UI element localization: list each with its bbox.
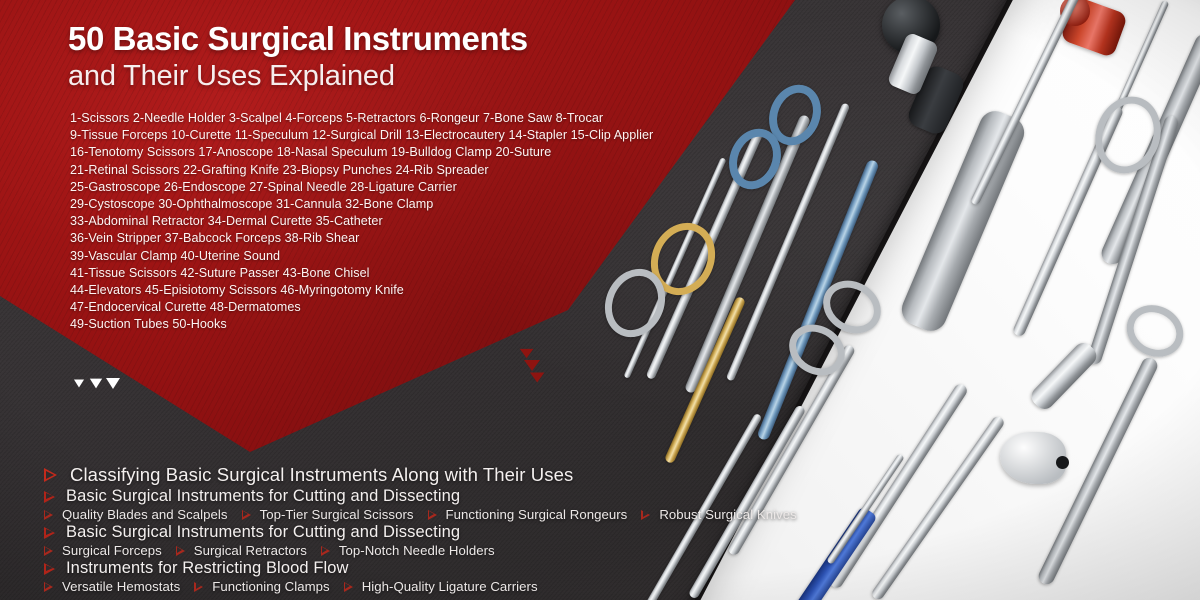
triangle-icon xyxy=(524,360,540,371)
instrument-list-line: 49-Suction Tubes 50-Hooks xyxy=(70,316,670,333)
instrument-list-line: 29-Cystoscope 30-Ophthalmoscope 31-Cannu… xyxy=(70,196,670,213)
toc-subitem[interactable]: Surgical Retractors xyxy=(176,543,307,558)
triangle-icon xyxy=(530,373,544,383)
page-title: 50 Basic Surgical Instruments and Their … xyxy=(68,22,688,93)
triangle-bullet-icon xyxy=(44,545,55,557)
table-of-contents: Classifying Basic Surgical Instruments A… xyxy=(44,464,1044,594)
toc-item-label: Instruments for Restricting Blood Flow xyxy=(66,559,349,578)
toc-subitem[interactable]: Quality Blades and Scalpels xyxy=(44,507,228,522)
toc-subitem[interactable]: Functioning Surgical Rongeurs xyxy=(428,507,628,522)
instrument-list-line: 44-Elevators 45-Episiotomy Scissors 46-M… xyxy=(70,282,670,299)
toc-item-label: Classifying Basic Surgical Instruments A… xyxy=(70,464,573,486)
triangle-bullet-icon xyxy=(428,509,439,521)
red-triangle-arrows-icon xyxy=(522,348,538,383)
instrument-list-line: 9-Tissue Forceps 10-Curette 11-Speculum … xyxy=(70,127,670,144)
toc-subitem[interactable]: Robust Surgical Knives xyxy=(641,507,796,522)
triangle-icon xyxy=(106,378,120,389)
triangle-icon xyxy=(520,349,534,358)
instrument-list-line: 25-Gastroscope 26-Endoscope 27-Spinal Ne… xyxy=(70,179,670,196)
toc-subitem-label: Versatile Hemostats xyxy=(62,579,180,594)
triangle-bullet-icon xyxy=(44,526,57,540)
title-subtitle: and Their Uses Explained xyxy=(68,59,688,93)
toc-subitem[interactable]: Top-Notch Needle Holders xyxy=(321,543,495,558)
toc-item-label: Basic Surgical Instruments for Cutting a… xyxy=(66,487,460,506)
white-triangle-arrows-icon xyxy=(72,378,120,389)
triangle-icon xyxy=(74,380,84,388)
triangle-bullet-icon xyxy=(344,581,355,593)
instrument-list-line: 33-Abdominal Retractor 34-Dermal Curette… xyxy=(70,213,670,230)
triangle-bullet-icon xyxy=(321,545,332,557)
instrument-list-line: 16-Tenotomy Scissors 17-Anoscope 18-Nasa… xyxy=(70,144,670,161)
triangle-bullet-icon xyxy=(176,545,187,557)
toc-subitem-label: Top-Notch Needle Holders xyxy=(339,543,495,558)
toc-subitem[interactable]: Versatile Hemostats xyxy=(44,579,180,594)
toc-row[interactable]: Classifying Basic Surgical Instruments A… xyxy=(44,464,1044,486)
toc-subitem-label: Quality Blades and Scalpels xyxy=(62,507,228,522)
triangle-bullet-icon xyxy=(44,509,55,521)
triangle-bullet-icon xyxy=(242,509,253,521)
instrument-list-line: 41-Tissue Scissors 42-Suture Passer 43-B… xyxy=(70,265,670,282)
toc-item-label: Basic Surgical Instruments for Cutting a… xyxy=(66,523,460,542)
triangle-bullet-icon xyxy=(44,490,57,504)
toc-subitem[interactable]: Surgical Forceps xyxy=(44,543,162,558)
toc-row[interactable]: Basic Surgical Instruments for Cutting a… xyxy=(44,487,1044,506)
toc-subitem[interactable]: High-Quality Ligature Carriers xyxy=(344,579,538,594)
triangle-icon xyxy=(90,379,102,389)
toc-row[interactable]: Instruments for Restricting Blood Flow xyxy=(44,559,1044,578)
toc-row[interactable]: Surgical ForcepsSurgical RetractorsTop-N… xyxy=(44,543,1044,558)
title-main: 50 Basic Surgical Instruments xyxy=(68,22,688,57)
toc-row[interactable]: Versatile HemostatsFunctioning ClampsHig… xyxy=(44,579,1044,594)
poster-canvas: 50 Basic Surgical Instruments and Their … xyxy=(0,0,1200,600)
toc-subitem[interactable]: Functioning Clamps xyxy=(194,579,329,594)
triangle-bullet-icon xyxy=(44,562,57,576)
instrument-list-line: 21-Retinal Scissors 22-Grafting Knife 23… xyxy=(70,162,670,179)
triangle-bullet-icon xyxy=(641,509,652,521)
toc-subitem-label: Functioning Surgical Rongeurs xyxy=(446,507,628,522)
instrument-number-list: 1-Scissors 2-Needle Holder 3-Scalpel 4-F… xyxy=(70,110,670,334)
toc-row[interactable]: Quality Blades and ScalpelsTop-Tier Surg… xyxy=(44,507,1044,522)
toc-subitem-label: Top-Tier Surgical Scissors xyxy=(260,507,414,522)
toc-subitem-label: High-Quality Ligature Carriers xyxy=(362,579,538,594)
toc-subitem[interactable]: Top-Tier Surgical Scissors xyxy=(242,507,414,522)
triangle-bullet-icon xyxy=(44,581,55,593)
toc-row[interactable]: Basic Surgical Instruments for Cutting a… xyxy=(44,523,1044,542)
instrument-list-line: 47-Endocervical Curette 48-Dermatomes xyxy=(70,299,670,316)
instrument-list-line: 39-Vascular Clamp 40-Uterine Sound xyxy=(70,248,670,265)
toc-subitem-label: Functioning Clamps xyxy=(212,579,329,594)
instrument-list-line: 36-Vein Stripper 37-Babcock Forceps 38-R… xyxy=(70,230,670,247)
toc-subitem-label: Surgical Forceps xyxy=(62,543,162,558)
toc-subitem-label: Surgical Retractors xyxy=(194,543,307,558)
toc-subitem-label: Robust Surgical Knives xyxy=(659,507,796,522)
instrument-list-line: 1-Scissors 2-Needle Holder 3-Scalpel 4-F… xyxy=(70,110,670,127)
triangle-bullet-icon xyxy=(44,467,60,484)
triangle-bullet-icon xyxy=(194,581,205,593)
